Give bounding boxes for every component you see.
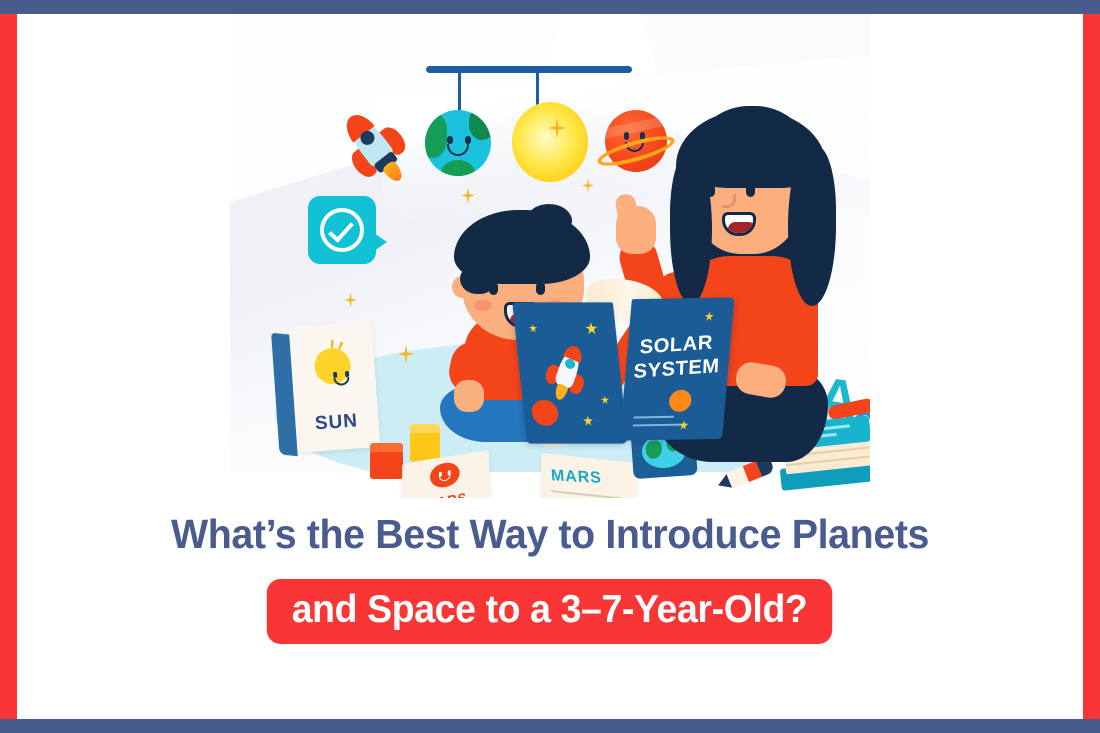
mobile-string	[458, 71, 461, 115]
boy-cheek	[474, 300, 492, 311]
sparkle-icon	[344, 292, 357, 308]
smiling-sun-art	[305, 338, 361, 394]
headline-line-1: What’s the Best Way to Introduce Planets	[38, 512, 1061, 557]
book-rocket-art	[536, 337, 598, 408]
woman-tongue	[728, 222, 756, 233]
woman-hair-side	[788, 146, 836, 306]
book-star-art	[601, 396, 610, 404]
frame-right-stripe	[1083, 14, 1100, 719]
mobile-hanging-bar	[426, 66, 632, 73]
earth-continent	[441, 160, 475, 176]
book-title-line2: SYSTEM	[633, 355, 720, 384]
boy-hand	[454, 380, 484, 412]
earth-eye	[465, 136, 471, 144]
worksheet-label-mars: MARS	[551, 467, 603, 488]
flash-card-label-sun: SUN	[294, 409, 379, 437]
toy-block-red	[370, 451, 403, 479]
woman-mouth	[722, 212, 756, 236]
flash-card-sun: SUN	[288, 321, 381, 453]
poster-inner-area: A c SUN	[17, 14, 1083, 719]
poster-canvas: A c SUN	[0, 0, 1100, 733]
headline-badge: and Space to a 3–7-Year-Old?	[267, 579, 833, 644]
book-star-art	[529, 324, 538, 332]
check-speech-bubble-icon	[308, 196, 376, 264]
book-star-art	[704, 312, 714, 321]
sun-icon	[512, 102, 588, 182]
worksheet-rule-line	[551, 490, 621, 498]
frame-left-stripe	[0, 14, 17, 719]
earth-eye	[447, 136, 453, 144]
rocket-flame	[553, 383, 569, 402]
headline-block: What’s the Best Way to Introduce Planets…	[17, 512, 1083, 644]
book-text-line	[633, 424, 687, 427]
solar-system-book: SOLAR SYSTEM	[520, 278, 728, 446]
book-star-art	[583, 416, 594, 426]
frame-top-border	[0, 0, 1100, 14]
earth-continent	[425, 114, 447, 158]
mars-card-smile	[439, 474, 451, 482]
mars-eye	[624, 132, 629, 140]
flash-card-label-mars: MARS	[403, 486, 490, 498]
book-star-art	[585, 322, 598, 334]
boy-hair-tuft	[526, 204, 572, 238]
hero-illustration: A c SUN	[230, 14, 870, 498]
book-planet-art	[668, 390, 692, 412]
flash-card-stand	[271, 333, 298, 457]
smiling-mars-art	[430, 461, 460, 490]
earth-planet-icon	[425, 110, 491, 176]
book-left-page	[512, 302, 627, 443]
earth-continent	[469, 110, 491, 140]
mobile-string	[536, 71, 539, 107]
frame-bottom-border	[0, 719, 1100, 733]
book-right-page: SOLAR SYSTEM	[620, 297, 735, 440]
book-planet-art	[531, 400, 560, 426]
book-text-line	[634, 416, 674, 419]
headline-badge-row: and Space to a 3–7-Year-Old?	[17, 579, 1083, 644]
earth-smile	[447, 144, 469, 156]
